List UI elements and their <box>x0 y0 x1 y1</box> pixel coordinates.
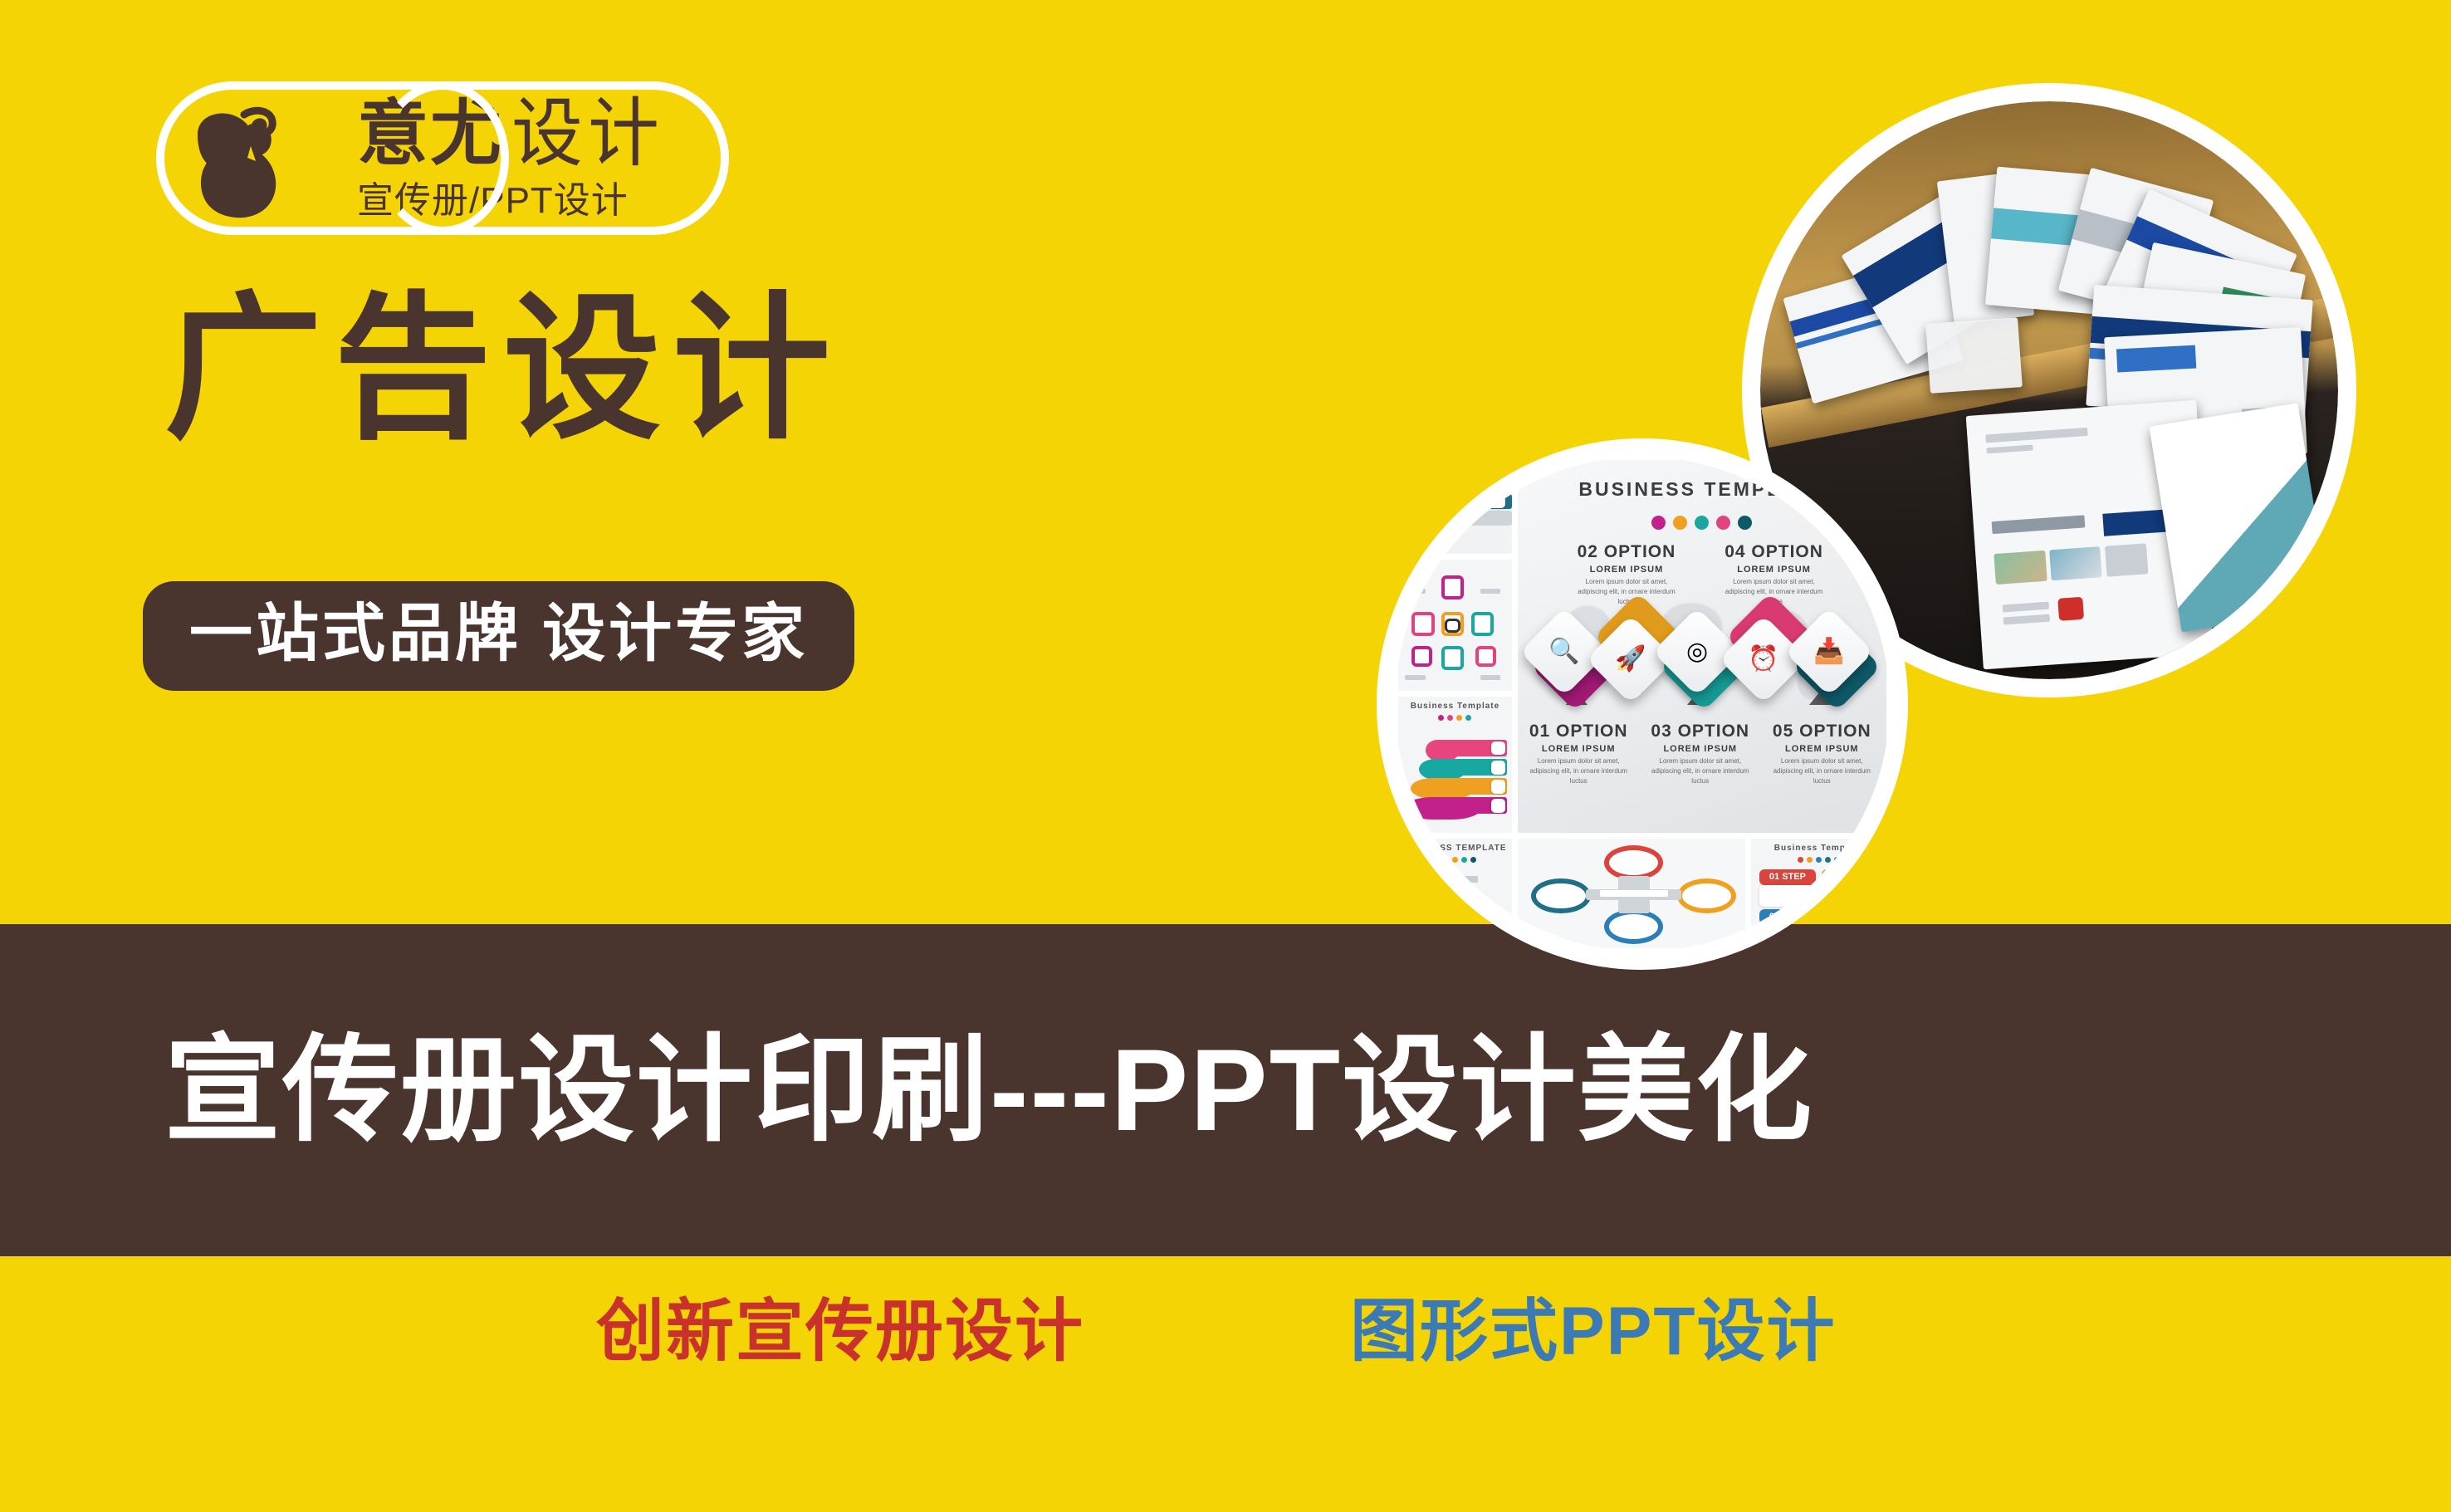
ppt-option-label-05: 05 OPTION LOREM IPSUM Lorem ipsum dolor … <box>1772 722 1871 786</box>
ppt-template-circle: Business Template <box>1377 438 1908 970</box>
ppt-palette-dots <box>1518 516 1886 530</box>
ppt-slide-cross-icons <box>1398 560 1512 690</box>
ppt-slide-heading: Business Template <box>1751 844 1886 853</box>
services-band: 宣传册设计印刷---PPT设计美化 <box>0 924 2451 1256</box>
red-seal-stamp <box>2057 596 2083 621</box>
alarm-clock-icon: ⏰ <box>1748 647 1778 672</box>
cycle-node-01 <box>1604 845 1663 880</box>
ppt-slide-four-steps: Business Template 01 STEP 02 STEP 03 ST <box>1751 839 1886 948</box>
brand-name-bold: 意尤 <box>357 98 503 169</box>
ppt-main-title: BUSINESS TEMPLATE <box>1518 478 1886 501</box>
inbox-icon: 📥 <box>1814 639 1845 664</box>
bird-mascot-icon <box>184 96 301 221</box>
ppt-slide-main-5options: BUSINESS TEMPLATE 02 OPTION LOREM IPSUM … <box>1518 460 1886 833</box>
magnifier-icon: 🔍 <box>1548 639 1579 664</box>
ppt-slide-circle-cycle <box>1518 839 1745 948</box>
cycle-node-04 <box>1531 878 1590 913</box>
palette-dot <box>1738 516 1752 530</box>
step-badge-03: 03 STEP <box>1759 909 1816 924</box>
tagline-badge-label: 一站式品牌 设计专家 <box>189 601 808 668</box>
step-badge-01: 01 STEP <box>1759 869 1816 884</box>
footer-links: 创新宣传册设计 图形式PPT设计 <box>0 1256 2451 1512</box>
tagline-badge: 一站式品牌 设计专家 <box>143 581 854 691</box>
ppt-collage-grid: Business Template <box>1395 457 1890 952</box>
step-badge-04: 04 STEP <box>1822 909 1878 924</box>
cycle-node-02 <box>1677 878 1736 913</box>
ppt-slide-pyramid: Business Template <box>1398 697 1512 834</box>
services-band-label: 宣传册设计印刷---PPT设计美化 <box>164 1032 1813 1148</box>
step-badge-02: 02 STEP <box>1822 869 1878 884</box>
ppt-option-label-03: 03 OPTION LOREM IPSUM Lorem ipsum dolor … <box>1651 722 1750 786</box>
brand-name-thin: 设计 <box>511 95 664 170</box>
palette-dot <box>1673 516 1687 530</box>
ppt-option-label-01: 01 OPTION LOREM IPSUM Lorem ipsum dolor … <box>1529 722 1628 786</box>
footer-link-ppt[interactable]: 图形式PPT设计 <box>1350 1298 1836 1366</box>
palette-dot <box>1695 516 1709 530</box>
brand-name: 意尤 设计 <box>357 98 664 169</box>
footer-link-brochure[interactable]: 创新宣传册设计 <box>596 1298 1084 1366</box>
palette-dot <box>1716 516 1730 530</box>
brochure-teal-page <box>2150 403 2331 632</box>
target-icon: ◎ <box>1685 639 1707 664</box>
advertising-banner: 意尤 设计 宣传册/PPT设计 广告设计 一站式品牌 设计专家 宣传册设计印刷-… <box>0 0 2451 1512</box>
ppt-slide-template-map: BUSINESS TEMPLATE <box>1398 839 1512 948</box>
rocket-icon: 🚀 <box>1615 647 1646 672</box>
brand-tagline: 宣传册/PPT设计 <box>357 183 664 219</box>
card-holder <box>1925 318 2023 394</box>
brand-logo-badge: 意尤 设计 宣传册/PPT设计 <box>156 81 729 235</box>
ppt-option-label-02: 02 OPTION LOREM IPSUM Lorem ipsum dolor … <box>1577 542 1676 607</box>
cycle-node-03 <box>1604 909 1663 944</box>
ppt-slide-heading: Business Template <box>1398 702 1512 711</box>
ppt-slide-ribbon-bars <box>1398 460 1512 554</box>
page-title: 广告设计 <box>164 291 842 448</box>
palette-dot <box>1651 516 1666 530</box>
ppt-slide-heading: BUSINESS TEMPLATE <box>1398 844 1512 853</box>
